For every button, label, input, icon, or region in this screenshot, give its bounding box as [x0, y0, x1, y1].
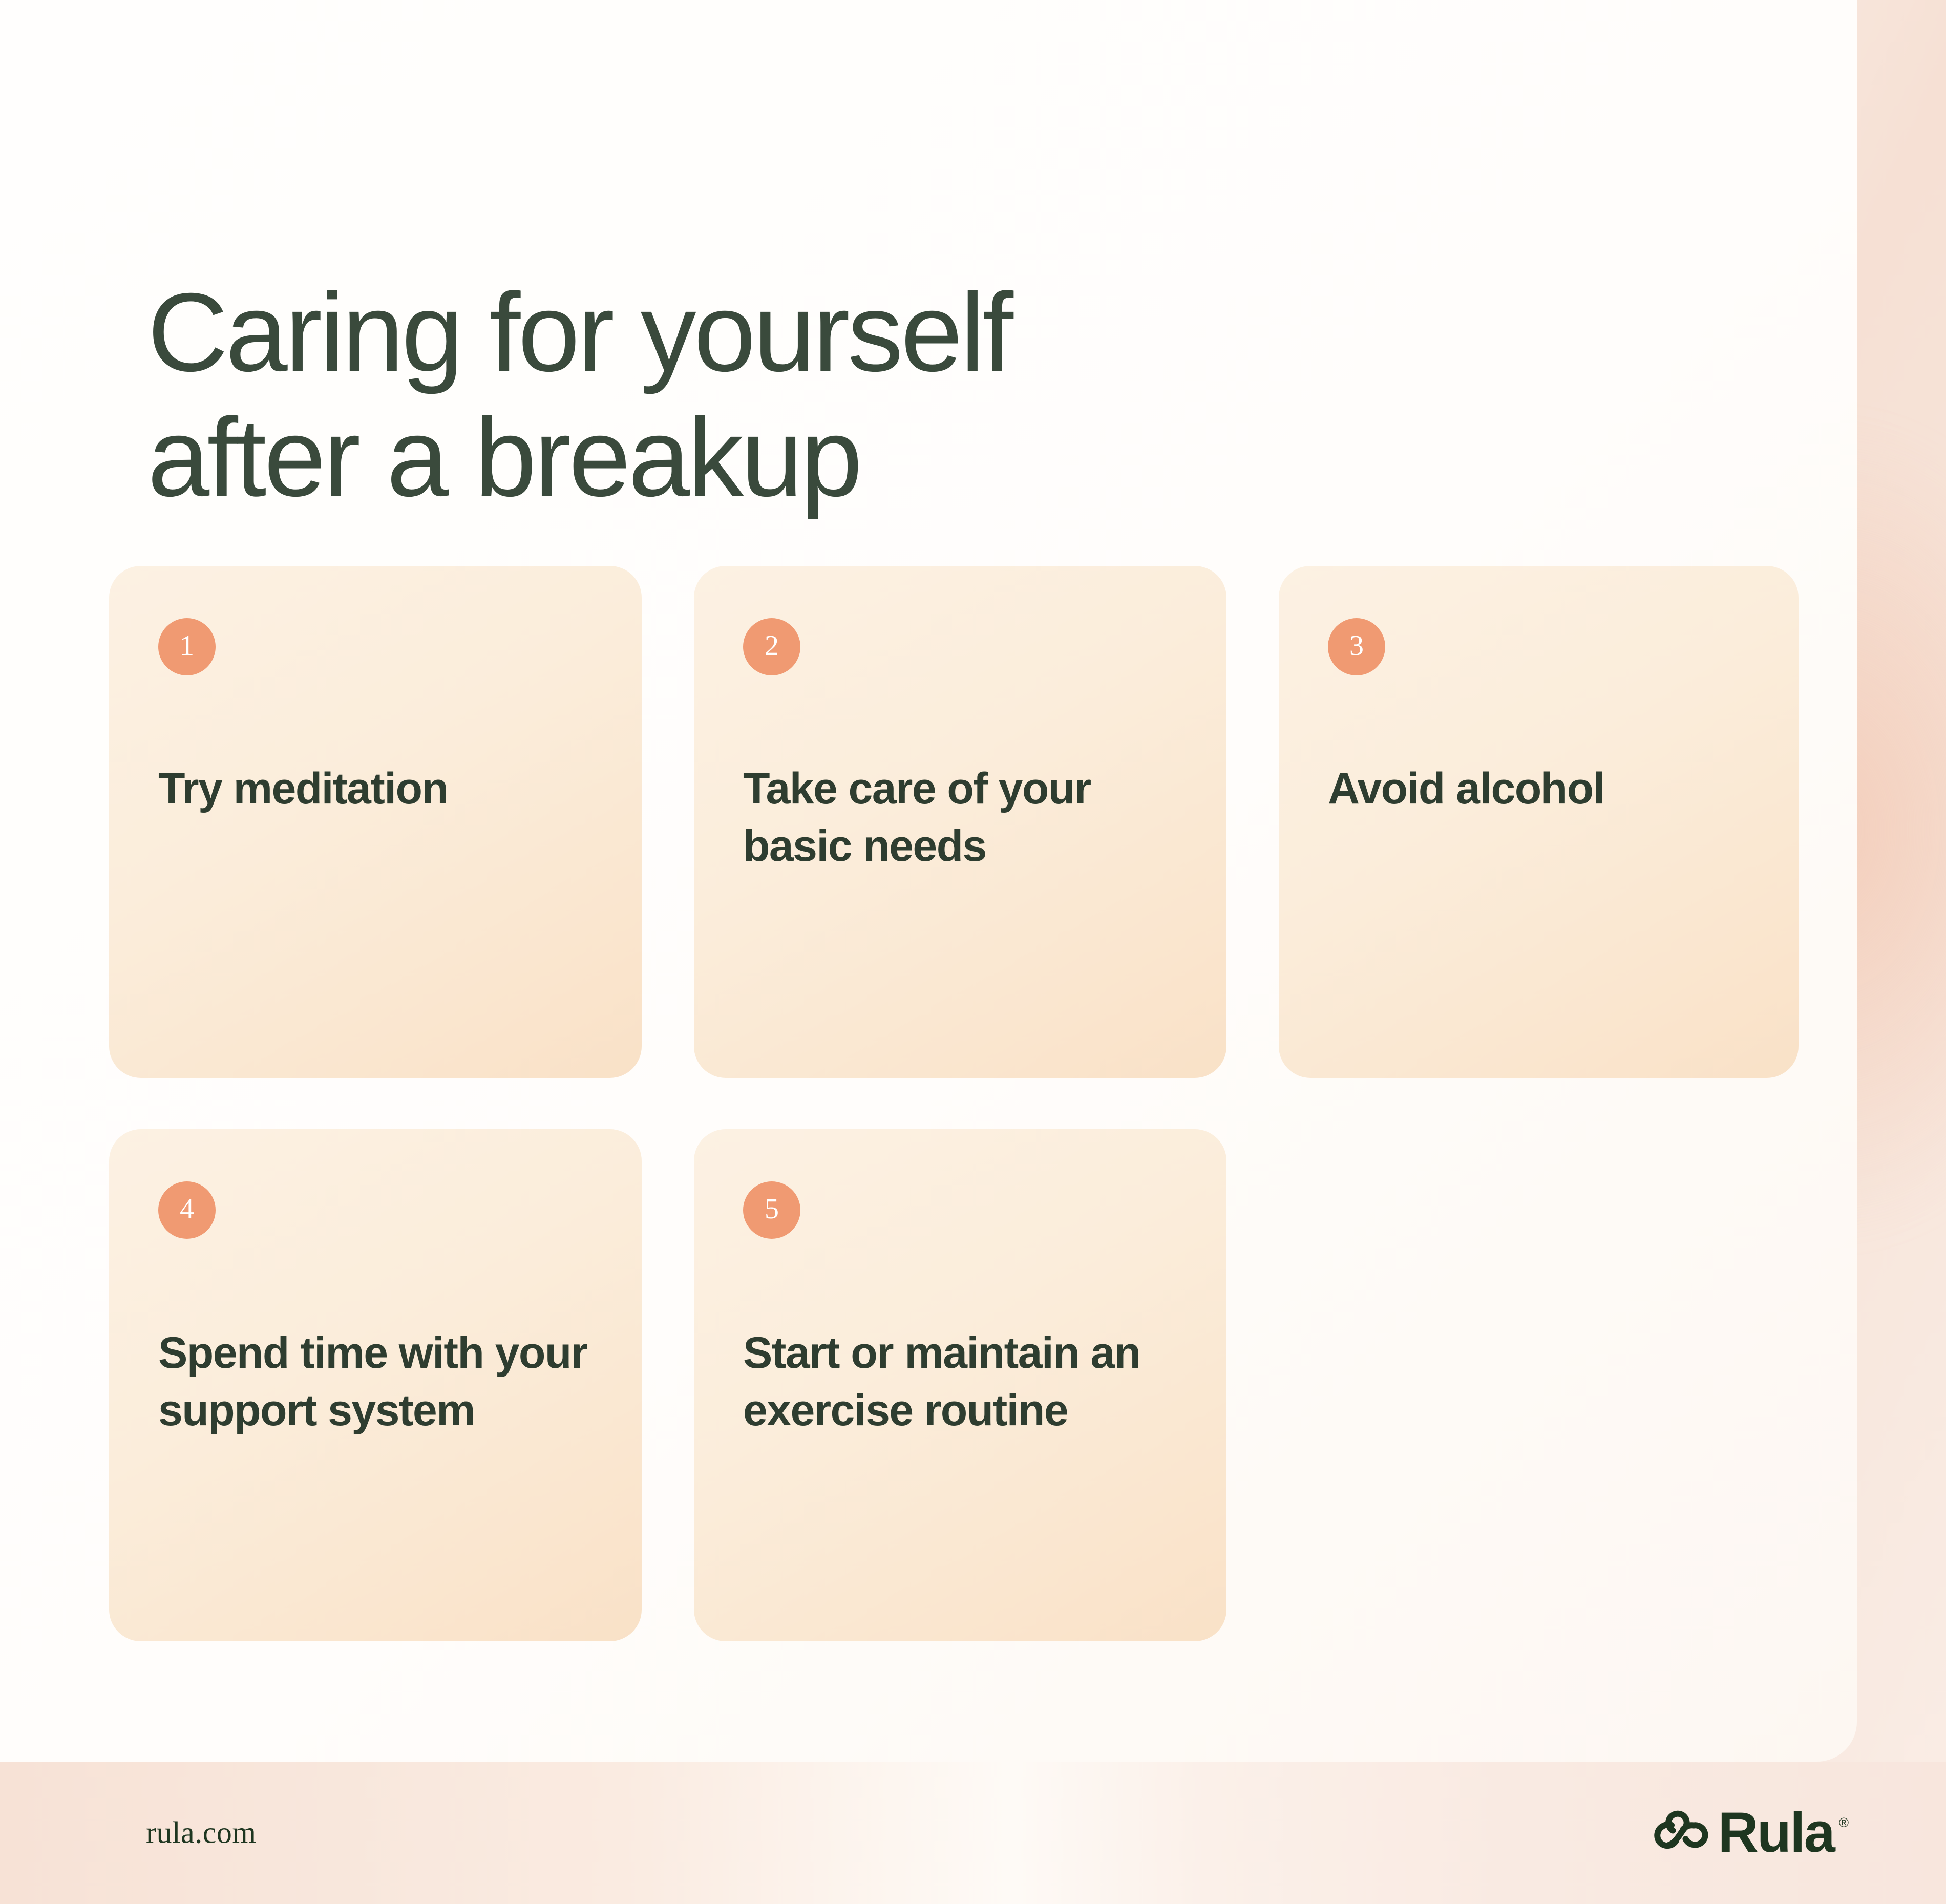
tip-title-3-line-2: alcohol	[1456, 764, 1604, 813]
tip-title-1: Try meditation	[158, 760, 606, 818]
tip-card-1: 1 Try meditation	[109, 566, 642, 1078]
tips-row-1: 1 Try meditation 2 Take care of your bas…	[109, 566, 1804, 1078]
tip-title-5-line-1: Start or maintain	[743, 1328, 1079, 1378]
footer-website-url[interactable]: rula.com	[146, 1815, 257, 1851]
tip-title-3: Avoid alcohol	[1328, 760, 1763, 818]
footer-bar: rula.com Rula ®	[0, 1762, 1946, 1904]
tip-title-1-line-1: Try	[158, 764, 222, 813]
tip-number-badge-3: 3	[1328, 618, 1385, 675]
tip-card-4: 4 Spend time with your support system	[109, 1129, 642, 1641]
rula-wordmark: Rula	[1718, 1805, 1833, 1861]
tip-number-badge-4: 4	[158, 1181, 216, 1239]
tip-number-badge-5: 5	[743, 1181, 800, 1239]
main-panel: Caring for yourself after a breakup 1 Tr…	[0, 0, 1857, 1762]
page-title-line-1: Caring for yourself	[147, 270, 1377, 395]
tip-title-1-line-2: meditation	[234, 764, 448, 813]
registered-trademark-icon: ®	[1839, 1816, 1849, 1829]
infographic-canvas: Caring for yourself after a breakup 1 Tr…	[0, 0, 1946, 1904]
tip-title-2-line-1: Take care of your	[743, 764, 1091, 813]
tip-card-5: 5 Start or maintain an exercise routine	[694, 1129, 1226, 1641]
tip-title-3-line-1: Avoid	[1328, 764, 1445, 813]
tip-number-badge-1: 1	[158, 618, 216, 675]
page-title: Caring for yourself after a breakup	[147, 270, 1377, 520]
tip-card-3: 3 Avoid alcohol	[1279, 566, 1799, 1078]
tip-number-1: 1	[180, 631, 194, 660]
tip-number-4: 4	[180, 1195, 194, 1223]
tip-title-4-line-1: Spend time with	[158, 1328, 483, 1378]
tip-title-4: Spend time with your support system	[158, 1325, 606, 1440]
tip-number-5: 5	[765, 1195, 779, 1223]
tip-title-5-line-3: routine	[924, 1386, 1068, 1435]
page-title-line-2: after a breakup	[147, 395, 1377, 520]
tip-number-badge-2: 2	[743, 618, 800, 675]
tips-row-2: 4 Spend time with your support system 5 …	[109, 1129, 1804, 1641]
tip-card-2: 2 Take care of your basic needs	[694, 566, 1226, 1078]
rula-logo[interactable]: Rula ®	[1650, 1805, 1849, 1861]
tips-grid: 1 Try meditation 2 Take care of your bas…	[109, 566, 1804, 1641]
rula-trefoil-logo-icon	[1650, 1806, 1710, 1860]
tip-number-3: 3	[1349, 631, 1364, 660]
tip-title-4-line-3: system	[328, 1386, 475, 1435]
tip-title-2-line-2: basic needs	[743, 821, 986, 871]
tip-title-2: Take care of your basic needs	[743, 760, 1191, 875]
tip-title-5: Start or maintain an exercise routine	[743, 1325, 1191, 1440]
tip-number-2: 2	[765, 631, 779, 660]
